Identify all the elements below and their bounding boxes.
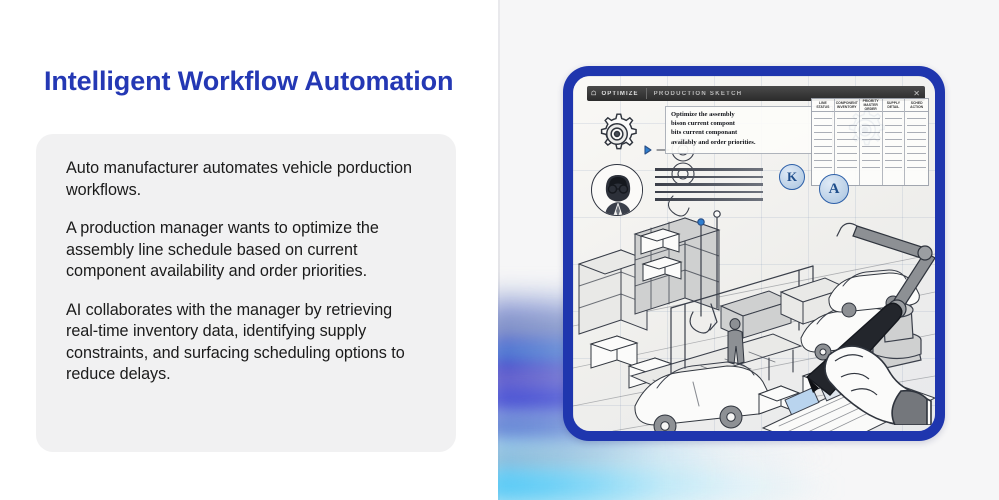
illustration-frame: ☖ OPTIMIZE PRODUCTION SKETCH ✕ Optimize …	[563, 66, 945, 441]
left-content-panel: Intelligent Workflow Automation Auto man…	[0, 0, 498, 500]
table-rows	[905, 112, 928, 185]
text-line	[655, 168, 763, 171]
badge-label: A	[829, 181, 840, 198]
table-column: SCHED ACTION	[905, 99, 928, 185]
toolbar-doc-title: PRODUCTION SKETCH	[654, 91, 743, 97]
text-lines	[655, 168, 763, 206]
callout-line: Optimize the assembly	[671, 110, 827, 119]
table-column-header: SCHED ACTION	[905, 99, 928, 112]
toolbar-app-label: OPTIMIZE	[601, 91, 638, 97]
optimization-callout: Optimize the assembly bison current comp…	[665, 106, 833, 154]
callout-line: bison current compont	[671, 119, 827, 128]
gear-icon-left	[595, 112, 639, 156]
table-rows	[883, 112, 905, 185]
table-rows	[860, 112, 882, 185]
swoosh-band	[498, 472, 846, 500]
slide-root: Intelligent Workflow Automation Auto man…	[0, 0, 999, 500]
table-column-header: LINE STATUS	[812, 99, 834, 112]
table-column-header: SUPPLY DETAIL	[883, 99, 905, 112]
table-column-header: COMPONENT INVENTORY	[835, 99, 859, 112]
paragraph-scenario: A production manager wants to optimize t…	[66, 218, 422, 283]
description-card: Auto manufacturer automates vehicle pord…	[36, 134, 456, 452]
table-column: LINE STATUS	[812, 99, 835, 185]
illustration-canvas: ☖ OPTIMIZE PRODUCTION SKETCH ✕ Optimize …	[573, 76, 935, 431]
home-icon[interactable]: ☖	[591, 90, 597, 97]
text-line	[655, 176, 763, 179]
manager-avatar	[591, 164, 643, 216]
close-icon[interactable]: ✕	[913, 89, 921, 98]
warehouse-shelving	[579, 218, 719, 334]
table-column: COMPONENT INVENTORY	[835, 99, 860, 185]
page-title: Intelligent Workflow Automation	[44, 66, 453, 97]
text-line	[655, 198, 763, 201]
badge-label: K	[787, 169, 797, 185]
paragraph-ai-role: AI collaborates with the manager by retr…	[66, 300, 422, 386]
text-line	[655, 191, 763, 194]
inventory-data-table: LINE STATUS COMPONENT INVENTORY PRIORITY…	[811, 98, 929, 186]
callout-line: availably and order priorities.	[671, 138, 827, 147]
table-column: SUPPLY DETAIL	[883, 99, 906, 185]
table-column: PRIORITY MASTER ORDER	[860, 99, 883, 185]
right-visual-panel: ☖ OPTIMIZE PRODUCTION SKETCH ✕ Optimize …	[498, 0, 999, 500]
text-line	[655, 183, 763, 186]
callout-line: bits current componant	[671, 128, 827, 137]
table-column-header: PRIORITY MASTER ORDER	[860, 99, 882, 112]
paragraph-summary: Auto manufacturer automates vehicle pord…	[66, 158, 422, 201]
hand-with-stylus	[789, 285, 935, 425]
badge-a: A	[819, 174, 849, 204]
toolbar-divider	[646, 88, 647, 99]
badge-k: K	[779, 164, 805, 190]
